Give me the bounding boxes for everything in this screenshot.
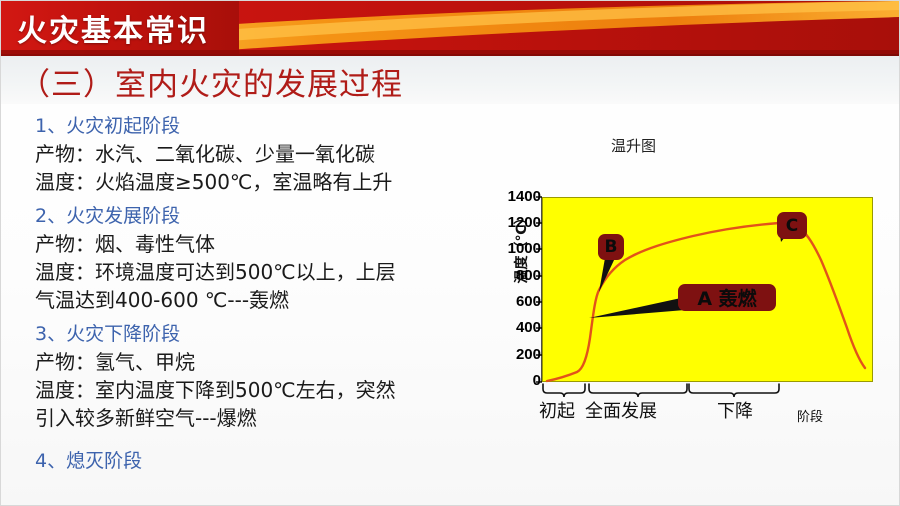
section-4: 4、熄灭阶段 <box>35 448 475 475</box>
chart-title: 温升图 <box>611 135 656 156</box>
y-tick: 800 <box>493 267 541 284</box>
section-1-line-2: 温度：火焰温度≥500℃，室温略有上升 <box>35 168 475 196</box>
section-1-line-1: 产物：水汽、二氧化碳、少量一氧化碳 <box>35 140 475 168</box>
stage-label-full-development: 全面发展 <box>585 397 657 423</box>
section-1: 1、火灾初起阶段 产物：水汽、二氧化碳、少量一氧化碳 温度：火焰温度≥500℃，… <box>35 113 475 196</box>
section-1-heading: 1、火灾初起阶段 <box>35 113 475 140</box>
callout-a-flashover: A 轰燃 <box>678 284 776 311</box>
section-3: 3、火灾下降阶段 产物：氢气、甲烷 温度：室内温度下降到500℃左右，突然 引入… <box>35 321 475 432</box>
y-tick: 1400 <box>493 188 541 205</box>
section-2-line-1: 产物：烟、毒性气体 <box>35 230 475 258</box>
section-subtitle: （三）室内火灾的发展过程 <box>19 59 403 104</box>
section-2-line-2: 温度：环境温度可达到500℃以上，上层 <box>35 258 475 286</box>
section-2: 2、火灾发展阶段 产物：烟、毒性气体 温度：环境温度可达到500℃以上，上层 气… <box>35 203 475 314</box>
content-column: 1、火灾初起阶段 产物：水汽、二氧化碳、少量一氧化碳 温度：火焰温度≥500℃，… <box>35 113 475 482</box>
section-2-heading: 2、火灾发展阶段 <box>35 203 475 230</box>
section-3-line-3: 引入较多新鲜空气---爆燃 <box>35 404 475 432</box>
y-tick: 400 <box>493 319 541 336</box>
callout-b: B <box>598 234 624 260</box>
section-4-heading: 4、熄灭阶段 <box>35 448 475 475</box>
chart-x-axis-label: 阶段 <box>797 406 823 425</box>
temperature-rise-chart: 温升图 温度（℃） 1400 1200 1000 800 600 400 200… <box>467 129 895 439</box>
section-3-heading: 3、火灾下降阶段 <box>35 321 475 348</box>
stage-label-decay: 下降 <box>717 397 753 423</box>
chart-plot-area: B A 轰燃 C <box>542 197 873 382</box>
section-3-line-1: 产物：氢气、甲烷 <box>35 348 475 376</box>
y-tick: 1000 <box>493 240 541 257</box>
stage-label-initial: 初起 <box>539 397 575 423</box>
section-3-line-2: 温度：室内温度下降到500℃左右，突然 <box>35 376 475 404</box>
header-banner: 火灾基本常识 <box>1 1 900 54</box>
slide-root: 火灾基本常识 （三）室内火灾的发展过程 1、火灾初起阶段 产物：水汽、二氧化碳、… <box>0 0 900 506</box>
y-tick: 200 <box>493 346 541 363</box>
section-2-line-3: 气温达到400-600 ℃---轰燃 <box>35 286 475 314</box>
chart-y-tick-labels: 1400 1200 1000 800 600 400 200 0 <box>489 129 541 389</box>
callout-c: C <box>777 212 807 239</box>
y-tick: 1200 <box>493 214 541 231</box>
y-tick: 600 <box>493 293 541 310</box>
y-tick: 0 <box>493 372 541 389</box>
page-title: 火灾基本常识 <box>17 6 209 50</box>
